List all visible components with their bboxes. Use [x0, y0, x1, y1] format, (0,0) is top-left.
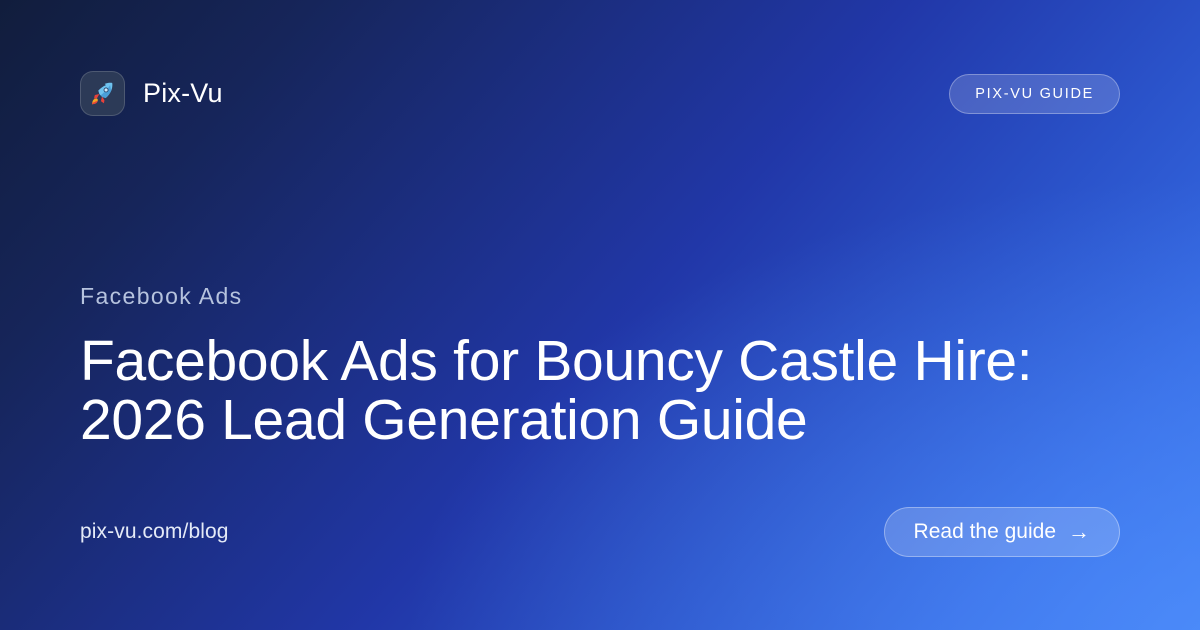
share-card: Pix-Vu PIX-VU GUIDE Facebook Ads Faceboo…: [0, 0, 1200, 630]
card-content: Facebook Ads Facebook Ads for Bouncy Cas…: [80, 283, 1080, 451]
guide-badge[interactable]: PIX-VU GUIDE: [949, 74, 1120, 114]
read-the-guide-button[interactable]: Read the guide →: [884, 507, 1120, 557]
rocket-icon: [80, 71, 125, 116]
brand-lockup[interactable]: Pix-Vu: [80, 71, 223, 116]
site-url: pix-vu.com/blog: [80, 520, 229, 544]
card-header: Pix-Vu PIX-VU GUIDE: [80, 71, 1120, 116]
arrow-right-icon: →: [1068, 521, 1090, 543]
card-footer: pix-vu.com/blog Read the guide →: [80, 507, 1120, 557]
brand-name: Pix-Vu: [143, 78, 223, 109]
cta-label: Read the guide: [914, 520, 1056, 544]
article-category: Facebook Ads: [80, 283, 1080, 310]
page-title: Facebook Ads for Bouncy Castle Hire: 202…: [80, 332, 1040, 451]
